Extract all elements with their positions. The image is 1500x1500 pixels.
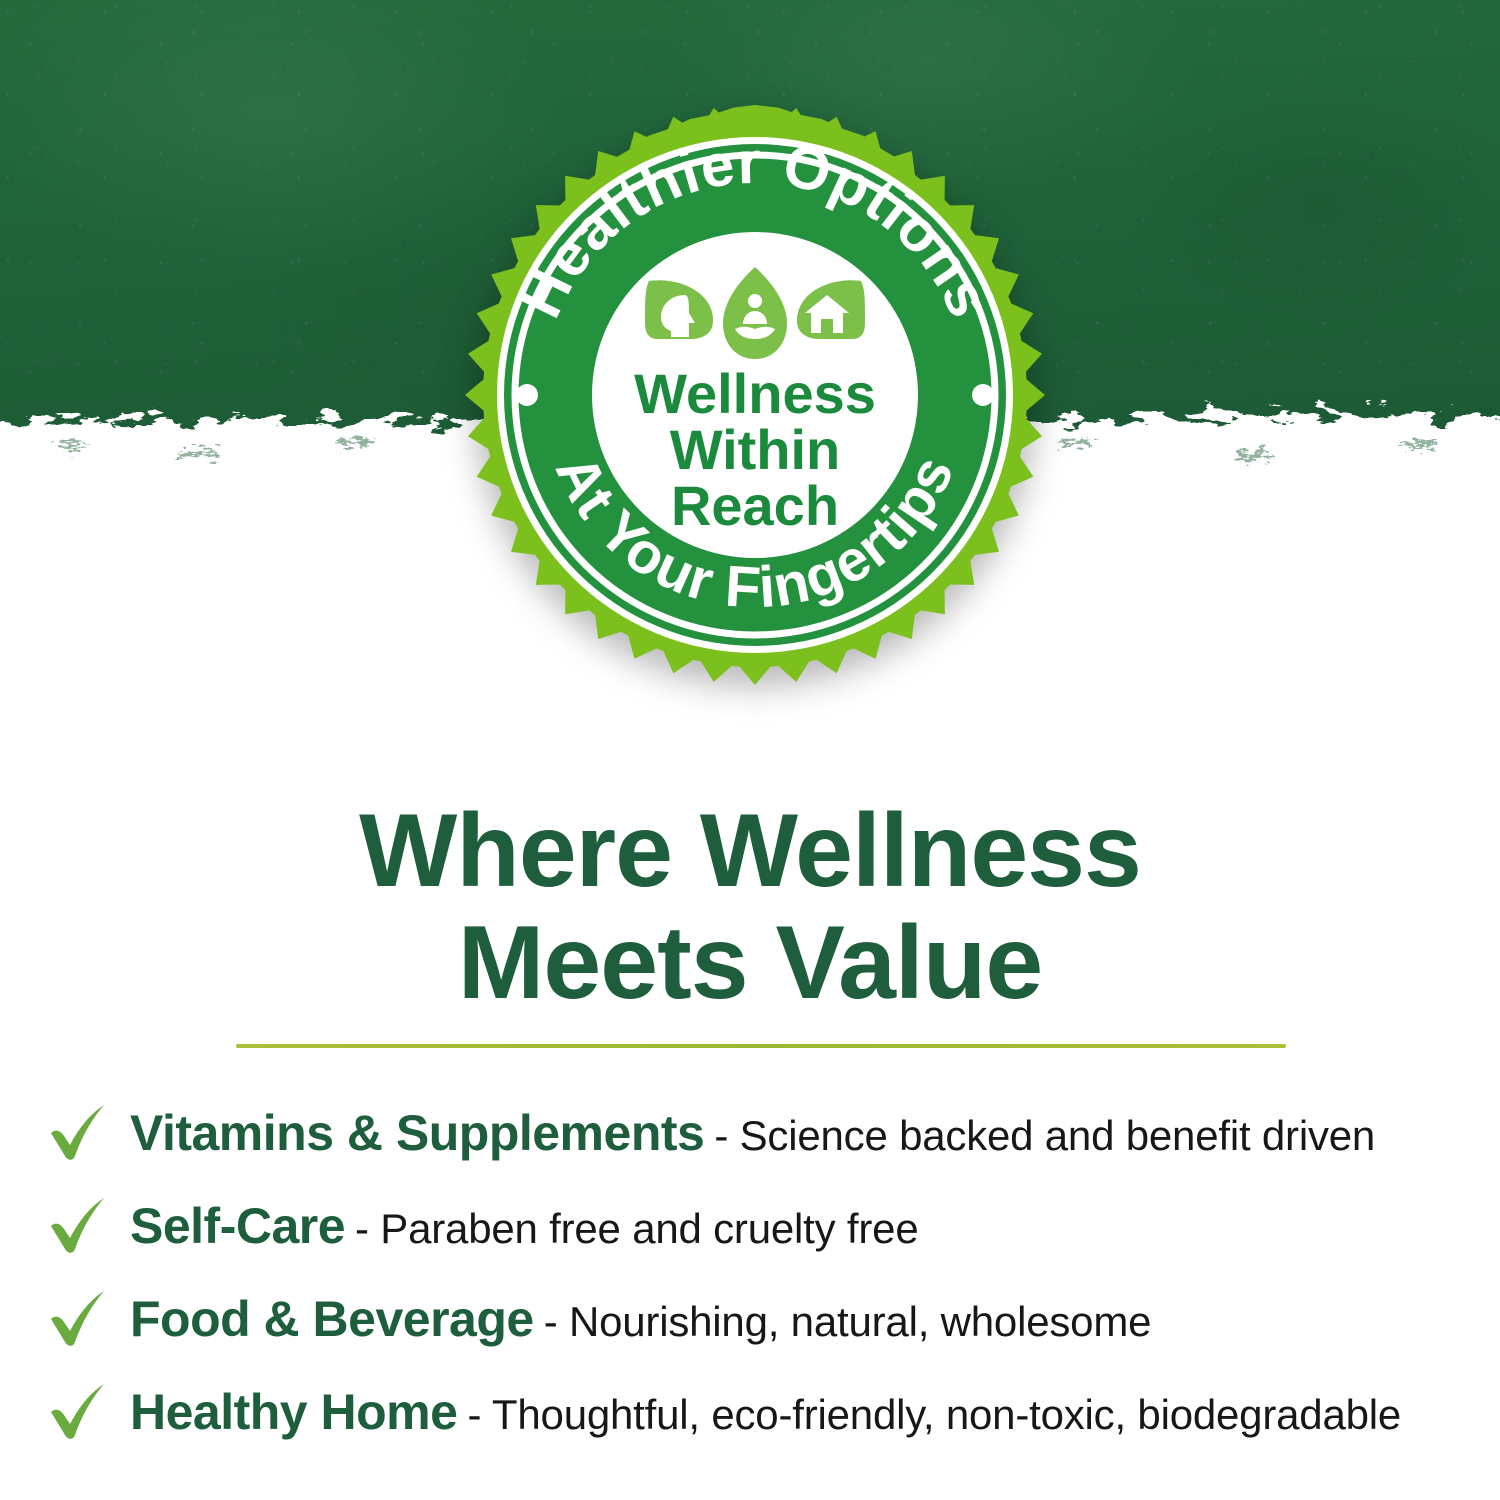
feature-row: Vitamins & Supplements- Science backed a… bbox=[0, 1086, 1500, 1179]
headline-line-1: Where Wellness bbox=[359, 793, 1141, 909]
feature-label: Self-Care bbox=[130, 1198, 345, 1254]
feature-description: - Nourishing, natural, wholesome bbox=[544, 1298, 1152, 1345]
feature-row: Self-Care- Paraben free and cruelty free bbox=[0, 1179, 1500, 1272]
checkmark-icon bbox=[46, 1379, 112, 1445]
feature-text: Food & Beverage- Nourishing, natural, wh… bbox=[130, 1294, 1151, 1344]
feature-row: Food & Beverage- Nourishing, natural, wh… bbox=[0, 1272, 1500, 1365]
checkmark-icon bbox=[46, 1286, 112, 1352]
feature-list: Vitamins & Supplements- Science backed a… bbox=[0, 1086, 1500, 1458]
feature-label: Healthy Home bbox=[130, 1384, 457, 1440]
feature-text: Vitamins & Supplements- Science backed a… bbox=[130, 1108, 1375, 1158]
feature-description: - Thoughtful, eco-friendly, non-toxic, b… bbox=[467, 1391, 1401, 1438]
badge-center-line-1: Wellness bbox=[634, 362, 876, 425]
title-divider bbox=[236, 1044, 1286, 1048]
feature-label: Food & Beverage bbox=[130, 1291, 534, 1347]
feature-label: Vitamins & Supplements bbox=[130, 1105, 704, 1161]
checkmark-icon bbox=[46, 1193, 112, 1259]
feature-text: Healthy Home- Thoughtful, eco-friendly, … bbox=[130, 1387, 1401, 1437]
feature-row: Healthy Home- Thoughtful, eco-friendly, … bbox=[0, 1365, 1500, 1458]
headline-line-2: Meets Value bbox=[0, 907, 1500, 1019]
feature-description: - Paraben free and cruelty free bbox=[355, 1205, 918, 1252]
feature-text: Self-Care- Paraben free and cruelty free bbox=[130, 1201, 918, 1251]
checkmark-icon bbox=[46, 1100, 112, 1166]
badge-center-line-3: Reach bbox=[671, 474, 839, 537]
wellness-badge: Healthier Options At Your Fingertips bbox=[455, 95, 1055, 695]
page-title: Where Wellness Meets Value bbox=[0, 795, 1500, 1020]
feature-description: - Science backed and benefit driven bbox=[714, 1112, 1375, 1159]
badge-dot-right bbox=[972, 384, 994, 406]
badge-center-line-2: Within bbox=[670, 418, 841, 481]
badge-dot-left bbox=[516, 384, 538, 406]
